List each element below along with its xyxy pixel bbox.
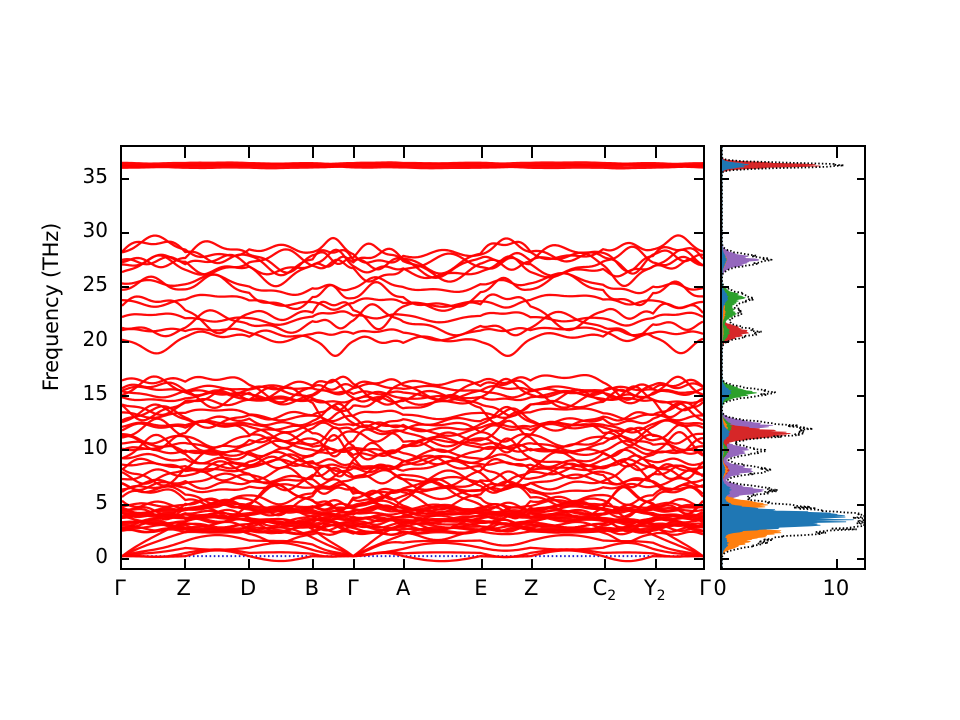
y-tick-label-35: 35 <box>64 164 108 188</box>
dos-y-tick-right-30 <box>857 232 866 234</box>
dos-x-tick-label-10: 10 <box>806 576 866 600</box>
y-tick-30 <box>120 232 129 234</box>
x-tick-label-5: A <box>373 576 433 600</box>
y-tick-right-15 <box>694 395 703 397</box>
y-tick-right-10 <box>694 449 703 451</box>
x-tick-label-1: Z <box>154 576 214 600</box>
x-tick-4 <box>353 559 355 570</box>
x-tick-6 <box>481 559 483 570</box>
dos-y-tick-20 <box>720 341 729 343</box>
phonon-figure: Frequency (THz) 35302520151050ΓZDBΓAEZC2… <box>0 0 960 720</box>
y-tick-35 <box>120 178 129 180</box>
x-tick-top-7 <box>531 147 533 158</box>
y-tick-label-15: 15 <box>64 381 108 405</box>
dos-y-tick-15 <box>720 395 729 397</box>
dos-y-tick-right-0 <box>857 558 866 560</box>
x-tick-top-1 <box>184 147 186 158</box>
dos-panel <box>720 145 866 570</box>
x-tick-top-9 <box>655 147 657 158</box>
band-structure-panel <box>120 145 705 570</box>
y-tick-25 <box>120 286 129 288</box>
x-tick-5 <box>403 559 405 570</box>
y-tick-right-20 <box>694 341 703 343</box>
dos-y-tick-30 <box>720 232 729 234</box>
dos-x-tick-top-10 <box>836 147 838 158</box>
y-tick-0 <box>120 558 129 560</box>
x-tick-3 <box>312 559 314 570</box>
y-tick-15 <box>120 395 129 397</box>
y-tick-right-5 <box>694 504 703 506</box>
y-tick-5 <box>120 504 129 506</box>
x-tick-label-7: Z <box>501 576 561 600</box>
y-tick-right-30 <box>694 232 703 234</box>
y-tick-10 <box>120 449 129 451</box>
dos-y-tick-right-20 <box>857 341 866 343</box>
dos-y-tick-35 <box>720 178 729 180</box>
y-tick-right-25 <box>694 286 703 288</box>
x-tick-label-2: D <box>218 576 278 600</box>
y-tick-right-0 <box>694 558 703 560</box>
y-tick-label-5: 5 <box>64 490 108 514</box>
y-tick-label-25: 25 <box>64 272 108 296</box>
dos-y-tick-right-25 <box>857 286 866 288</box>
x-tick-7 <box>531 559 533 570</box>
x-tick-top-8 <box>604 147 606 158</box>
x-tick-1 <box>184 559 186 570</box>
dos-y-tick-10 <box>720 449 729 451</box>
dos-y-tick-25 <box>720 286 729 288</box>
dos-x-tick-10 <box>836 559 838 570</box>
y-tick-label-10: 10 <box>64 435 108 459</box>
y-tick-label-20: 20 <box>64 327 108 351</box>
x-tick-top-3 <box>312 147 314 158</box>
y-axis-label: Frequency (THz) <box>39 157 69 457</box>
x-tick-2 <box>248 559 250 570</box>
dos-y-tick-5 <box>720 504 729 506</box>
y-tick-right-35 <box>694 178 703 180</box>
dos-plot <box>722 147 864 568</box>
x-tick-top-2 <box>248 147 250 158</box>
dos-y-tick-right-15 <box>857 395 866 397</box>
x-tick-label-0: Γ <box>90 576 150 600</box>
dos-y-tick-right-10 <box>857 449 866 451</box>
dos-x-tick-label-0: 0 <box>690 576 750 600</box>
y-tick-label-0: 0 <box>64 544 108 568</box>
x-tick-8 <box>604 559 606 570</box>
y-tick-20 <box>120 341 129 343</box>
y-tick-label-30: 30 <box>64 218 108 242</box>
dos-y-tick-right-35 <box>857 178 866 180</box>
x-tick-top-5 <box>403 147 405 158</box>
dos-y-tick-right-5 <box>857 504 866 506</box>
x-tick-top-4 <box>353 147 355 158</box>
band-structure-plot <box>122 147 703 568</box>
x-tick-9 <box>655 559 657 570</box>
dos-y-tick-0 <box>720 558 729 560</box>
x-tick-top-6 <box>481 147 483 158</box>
